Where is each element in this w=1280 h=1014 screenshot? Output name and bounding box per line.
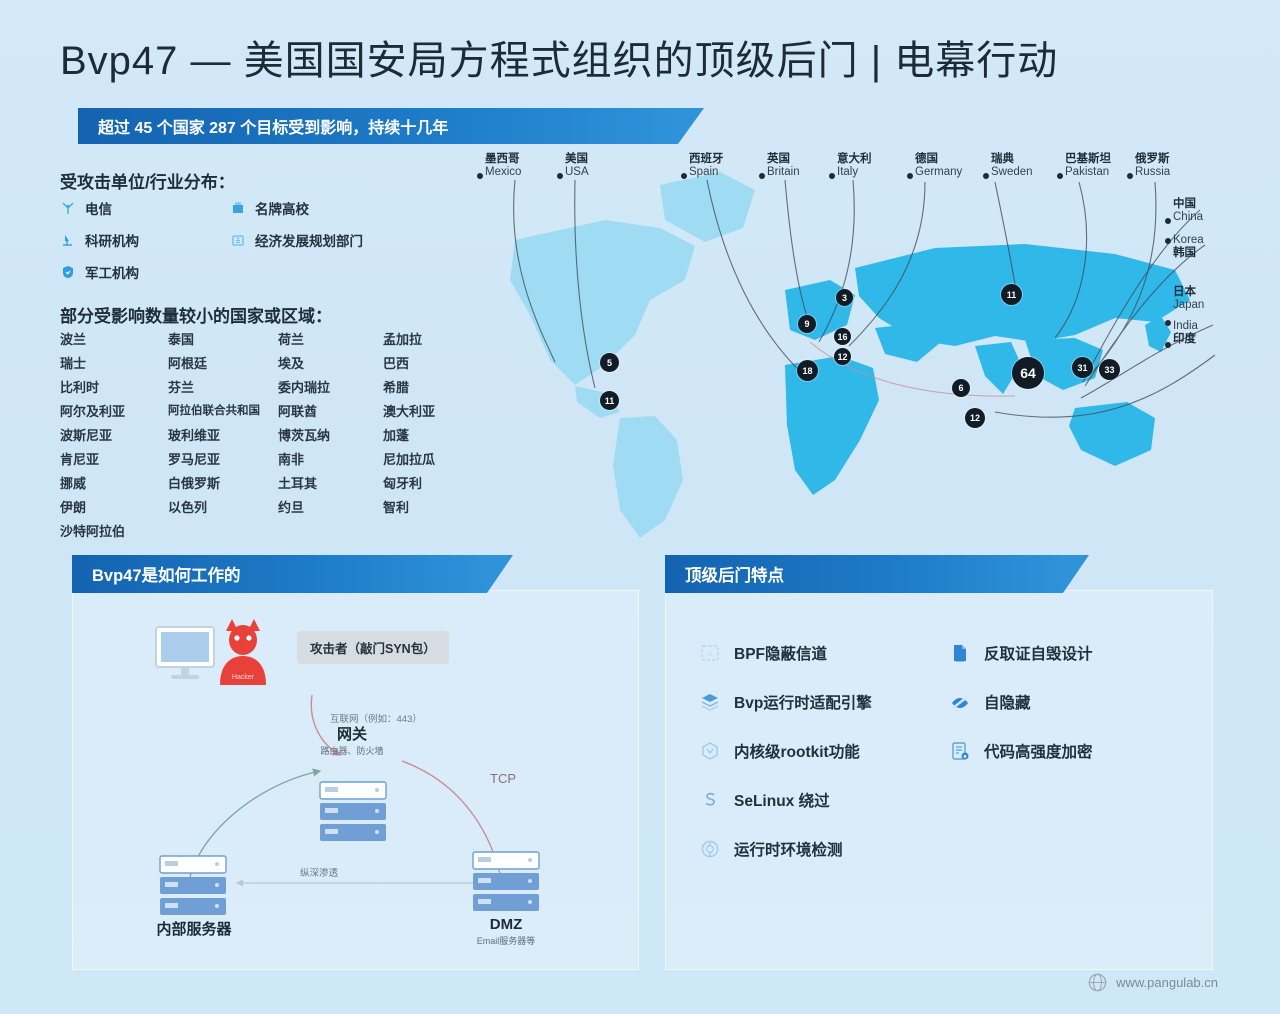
bank-icon bbox=[230, 232, 246, 248]
sector-label: 名牌高校 bbox=[255, 198, 309, 218]
footer: www.pangulab.cn bbox=[1088, 973, 1218, 992]
feature-label: 反取证自毁设计 bbox=[984, 642, 1093, 664]
country-item: 委内瑞拉 bbox=[278, 378, 383, 397]
shield-icon bbox=[60, 264, 76, 280]
dmz-label: DMZ Email服务器等 bbox=[450, 915, 562, 948]
server-gateway-icon bbox=[319, 781, 387, 843]
country-item: 南非 bbox=[278, 450, 383, 469]
feature-bpf-channel: BPF隐蔽信道 bbox=[700, 642, 950, 664]
sector-item-military: 军工机构 bbox=[60, 262, 230, 282]
map-dot-china bbox=[1165, 218, 1171, 224]
globe-icon bbox=[1088, 973, 1107, 992]
sector-item-economic-planning: 经济发展规划部门 bbox=[230, 230, 420, 250]
map-dot-mexico bbox=[477, 173, 483, 179]
radar-icon bbox=[700, 839, 720, 859]
selinux-icon bbox=[700, 790, 720, 810]
sector-label: 军工机构 bbox=[85, 262, 139, 282]
feature-code-encryption: 代码高强度加密 bbox=[950, 740, 1200, 762]
impact-banner: 超过 45 个国家 287 个目标受到影响，持续十几年 bbox=[78, 108, 678, 144]
country-item: 伊朗 bbox=[60, 498, 168, 517]
sector-label: 经济发展规划部门 bbox=[255, 230, 363, 250]
how-it-works-banner: Bvp47是如何工作的 bbox=[72, 555, 487, 593]
country-item: 土耳其 bbox=[278, 474, 383, 493]
sectors-title: 受攻击单位/行业分布： bbox=[60, 168, 235, 193]
feature-runtime-detection: 运行时环境检测 bbox=[700, 838, 950, 860]
feature-selinux-bypass: SeLinux 绕过 bbox=[700, 789, 950, 811]
document-shred-icon bbox=[950, 643, 970, 663]
map-marker-russia: 11 bbox=[1001, 284, 1022, 305]
kernel-icon bbox=[700, 741, 720, 761]
map-dot-japan bbox=[1165, 320, 1171, 326]
map-marker-germany: 16 bbox=[834, 328, 851, 345]
feature-anti-forensics: 反取证自毁设计 bbox=[950, 642, 1200, 664]
feature-self-hiding: 自隐藏 bbox=[950, 691, 1200, 713]
feature-label: 运行时环境检测 bbox=[734, 838, 843, 860]
map-dot-spain bbox=[681, 173, 687, 179]
country-item: 芬兰 bbox=[168, 378, 278, 397]
map-dot-usa bbox=[557, 173, 563, 179]
tcp-label: TCP bbox=[490, 771, 516, 786]
world-map-svg bbox=[455, 150, 1270, 540]
sector-item-research: 科研机构 bbox=[60, 230, 230, 250]
country-item: 埃及 bbox=[278, 354, 383, 373]
map-dot-germany bbox=[907, 173, 913, 179]
map-marker-korea: 31 bbox=[1072, 357, 1093, 378]
channel-icon bbox=[700, 643, 720, 663]
sectors-grid: 电信 名牌高校 科研机构 经济发展规划部门 军工机构 bbox=[60, 198, 460, 282]
map-marker-spain: 18 bbox=[797, 360, 818, 381]
map-dot-korea bbox=[1165, 238, 1171, 244]
internal-server-label: 内部服务器 bbox=[134, 920, 254, 940]
country-item-empty bbox=[168, 522, 278, 541]
feature-label: 代码高强度加密 bbox=[984, 740, 1093, 762]
features-grid: BPF隐蔽信道 反取证自毁设计 Bvp运行时适配引擎 自隐藏 内核级rootki… bbox=[700, 628, 1200, 873]
country-item: 挪威 bbox=[60, 474, 168, 493]
country-item: 沙特阿拉伯 bbox=[60, 522, 168, 541]
country-item: 白俄罗斯 bbox=[168, 474, 278, 493]
country-item: 博茨瓦纳 bbox=[278, 426, 383, 445]
footer-url: www.pangulab.cn bbox=[1116, 975, 1218, 990]
sector-item-telecom: 电信 bbox=[60, 198, 230, 218]
countries-grid: 波兰泰国荷兰孟加拉瑞士阿根廷埃及巴西比利时芬兰委内瑞拉希腊阿尔及利亚阿拉伯联合共… bbox=[60, 330, 480, 541]
server-internal-icon bbox=[159, 855, 227, 917]
attack-flow-diagram: Hacker 攻击者（敲门SYN包） bbox=[72, 593, 637, 968]
country-item: 阿拉伯联合共和国 bbox=[168, 402, 278, 421]
feature-label: SeLinux 绕过 bbox=[734, 789, 830, 811]
feature-label: BPF隐蔽信道 bbox=[734, 642, 827, 664]
sector-label: 科研机构 bbox=[85, 230, 139, 250]
country-item: 以色列 bbox=[168, 498, 278, 517]
map-marker-britain: 9 bbox=[798, 315, 816, 333]
sector-label: 电信 bbox=[85, 198, 112, 218]
country-item: 比利时 bbox=[60, 378, 168, 397]
map-dot-india bbox=[1165, 342, 1171, 348]
map-marker-india: 12 bbox=[965, 408, 985, 428]
country-item: 约旦 bbox=[278, 498, 383, 517]
country-item: 荷兰 bbox=[278, 330, 383, 349]
map-marker-mexico: 5 bbox=[600, 353, 619, 372]
antenna-icon bbox=[60, 200, 76, 216]
countries-title: 部分受影响数量较小的国家或区域： bbox=[60, 302, 332, 327]
layers-icon bbox=[700, 692, 720, 712]
feature-label: Bvp运行时适配引擎 bbox=[734, 691, 872, 713]
infographic-page: Bvp47 — 美国国安局方程式组织的顶级后门 | 电幕行动 超过 45 个国家… bbox=[0, 0, 1280, 1014]
gateway-label: 网关 路由器、防火墙 bbox=[297, 725, 407, 758]
country-item-empty bbox=[278, 522, 383, 541]
feature-runtime-engine: Bvp运行时适配引擎 bbox=[700, 691, 950, 713]
country-item: 波斯尼亚 bbox=[60, 426, 168, 445]
country-item: 泰国 bbox=[168, 330, 278, 349]
country-item: 波兰 bbox=[60, 330, 168, 349]
country-item: 阿尔及利亚 bbox=[60, 402, 168, 421]
server-dmz-icon bbox=[472, 851, 540, 913]
country-item: 罗马尼亚 bbox=[168, 450, 278, 469]
penetration-label: 纵深渗透 bbox=[300, 865, 338, 879]
map-marker-china: 64 bbox=[1012, 357, 1044, 389]
country-item: 阿联酋 bbox=[278, 402, 383, 421]
map-marker-sweden: 3 bbox=[836, 289, 853, 306]
features-banner: 顶级后门特点 bbox=[665, 555, 1063, 593]
map-dot-russia bbox=[1127, 173, 1133, 179]
map-dot-sweden bbox=[983, 173, 989, 179]
page-title: Bvp47 — 美国国安局方程式组织的顶级后门 | 电幕行动 bbox=[60, 28, 1058, 86]
map-dot-pakistan bbox=[1057, 173, 1063, 179]
map-marker-japan: 33 bbox=[1099, 359, 1120, 380]
sector-item-university: 名牌高校 bbox=[230, 198, 420, 218]
microscope-icon bbox=[60, 232, 76, 248]
internet-label: 互联网（例如：443） bbox=[330, 711, 422, 725]
lock-document-icon bbox=[950, 741, 970, 761]
map-marker-pakistan: 6 bbox=[952, 379, 970, 397]
map-dot-italy bbox=[829, 173, 835, 179]
map-marker-usa: 11 bbox=[600, 391, 619, 410]
country-item: 瑞士 bbox=[60, 354, 168, 373]
map-dot-britain bbox=[759, 173, 765, 179]
university-icon bbox=[230, 200, 246, 216]
country-item: 阿根廷 bbox=[168, 354, 278, 373]
feature-label: 内核级rootkit功能 bbox=[734, 740, 860, 762]
country-item: 玻利维亚 bbox=[168, 426, 278, 445]
feature-label: 自隐藏 bbox=[984, 691, 1031, 713]
map-marker-italy: 12 bbox=[834, 348, 851, 365]
eye-off-icon bbox=[950, 692, 970, 712]
feature-kernel-rootkit: 内核级rootkit功能 bbox=[700, 740, 950, 762]
country-item: 肯尼亚 bbox=[60, 450, 168, 469]
world-map: 墨西哥 Mexico 美国 USA 西班牙 Spain 英国 Britain 意… bbox=[455, 150, 1270, 540]
